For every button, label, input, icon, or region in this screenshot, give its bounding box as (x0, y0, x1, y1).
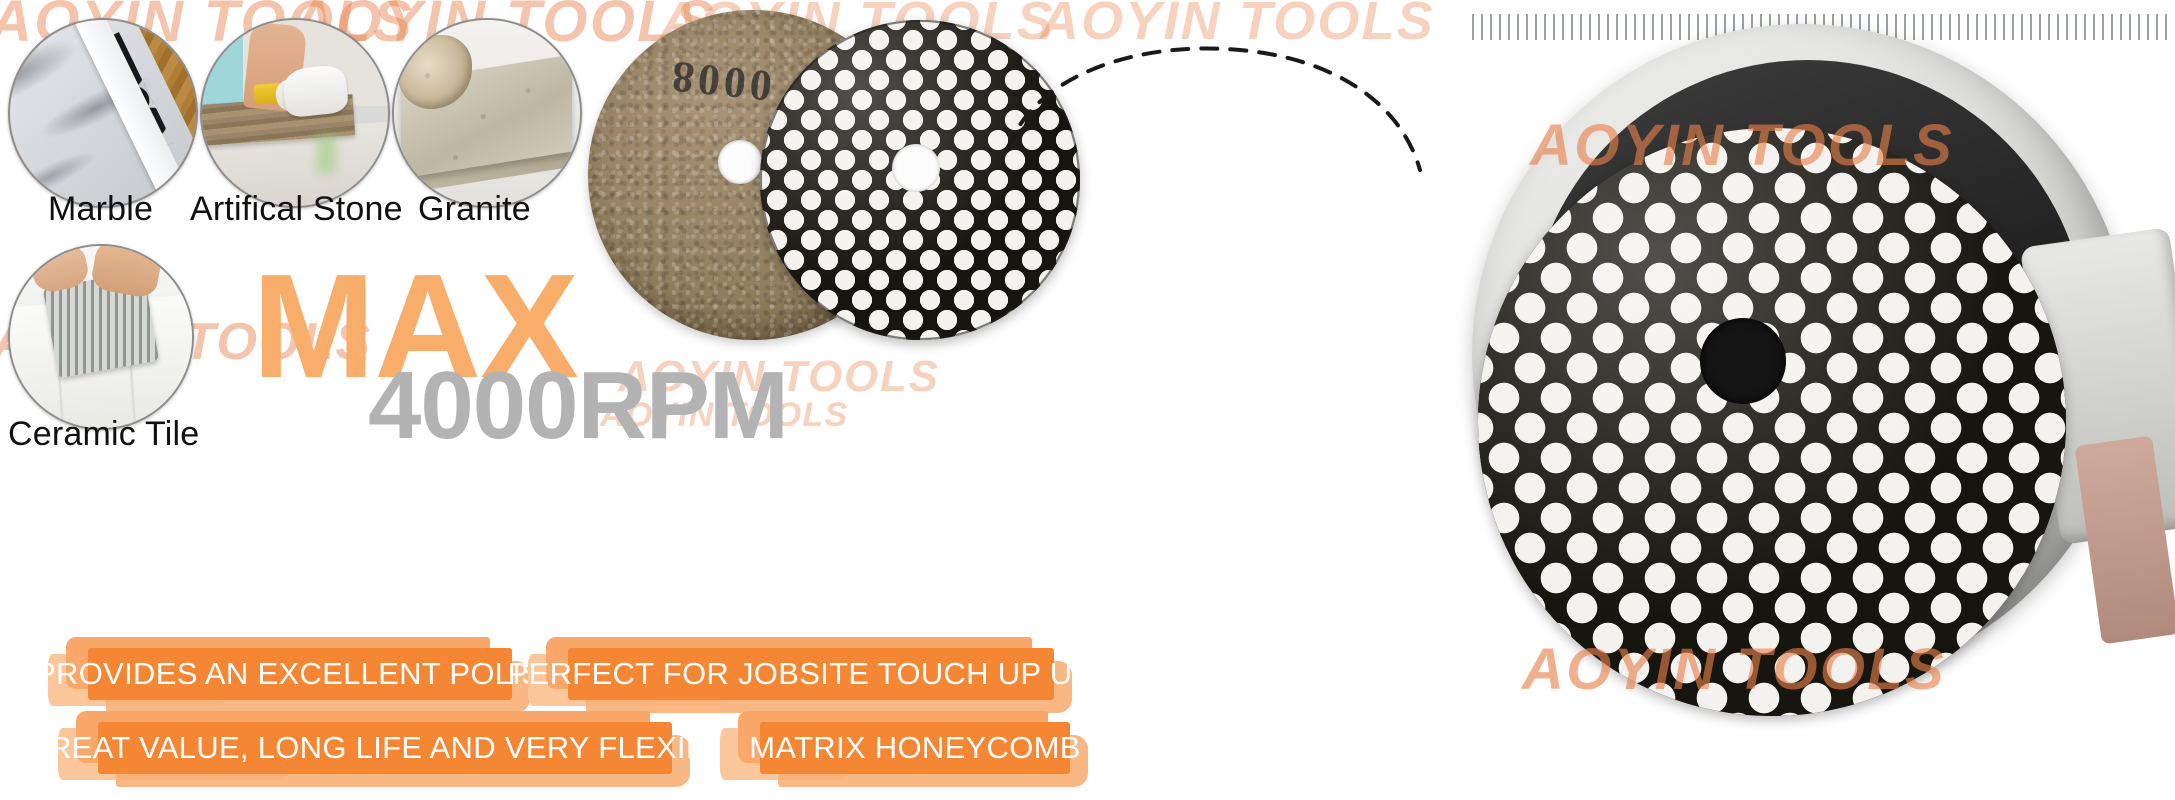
application-image-granite (392, 18, 582, 208)
pad-face-center-hole (892, 144, 940, 192)
promo-banner: AOYIN TOOLS AOYIN TOOLS AOYIN TOOLS AOYI… (0, 0, 2175, 800)
feature-text: MATRIX HONEYCOMB (749, 730, 1080, 766)
watermark-text: AOYIN TOOLS (1040, 0, 1435, 52)
feature-banner-3: GREAT VALUE, LONG LIFE AND VERY FLEXIBLE (98, 722, 672, 774)
feature-text: PERFECT FOR JOBSITE TOUCH UP USE (508, 656, 1115, 692)
feature-banner-2: PERFECT FOR JOBSITE TOUCH UP USE (568, 648, 1054, 700)
pad-center-hole (718, 140, 762, 184)
application-image-marble (8, 18, 198, 208)
feature-banner-4: MATRIX HONEYCOMB (760, 722, 1070, 774)
application-label-artifical-stone: Artifical Stone (190, 190, 403, 229)
application-image-ceramic-tile (8, 244, 194, 430)
feature-text: GREAT VALUE, LONG LIFE AND VERY FLEXIBLE (25, 730, 746, 766)
mounted-polishing-pad (1478, 128, 2066, 716)
rpm-headline: 4000RPM (368, 358, 788, 454)
application-image-artifical-stone (200, 18, 390, 208)
feature-banner-1: PROVIDES AN EXCELLENT POLISH (88, 648, 512, 700)
application-label-ceramic-tile: Ceramic Tile (8, 415, 199, 454)
application-label-marble: Marble (48, 190, 153, 229)
mounted-pad-center-hole (1700, 318, 1786, 404)
application-label-granite: Granite (418, 190, 531, 229)
feature-text: PROVIDES AN EXCELLENT POLISH (35, 656, 565, 692)
